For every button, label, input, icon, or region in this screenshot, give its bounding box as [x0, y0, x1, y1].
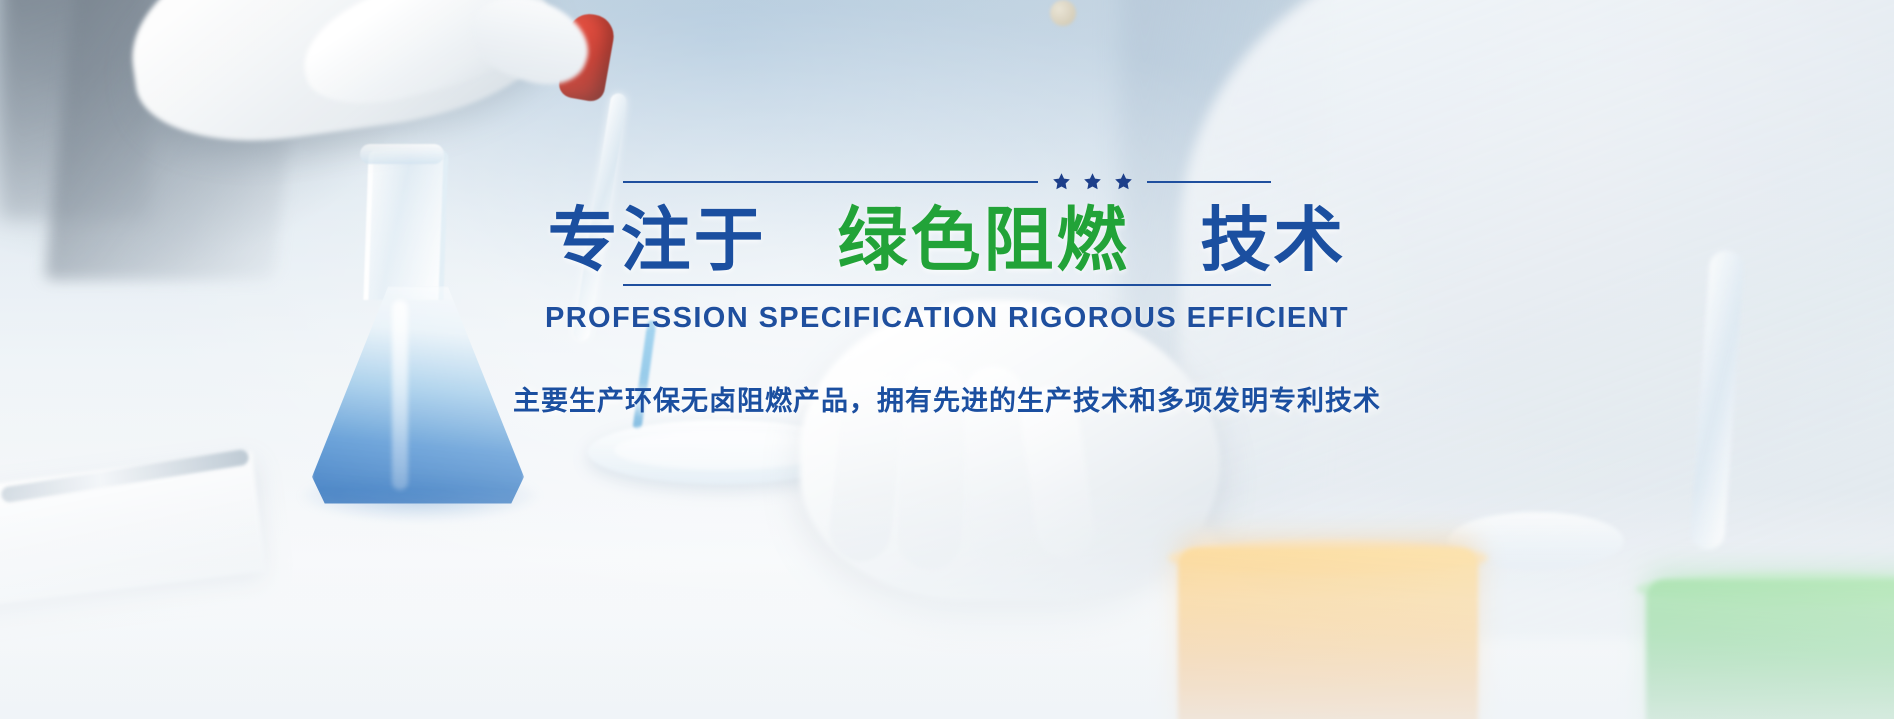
headline-part-3: 技术	[1200, 201, 1346, 279]
star-icon	[1114, 172, 1133, 191]
star-icon	[1052, 172, 1071, 191]
page-title: 专注于 绿色阻燃 技术	[548, 205, 1347, 276]
description-chinese: 主要生产环保无卤阻燃产品，拥有先进的生产技术和多项发明专利技术	[513, 379, 1381, 418]
banner-content: 专注于 绿色阻燃 技术 PROFESSION SPECIFICATION RIG…	[0, 0, 1894, 719]
headline-underline	[623, 284, 1271, 286]
divider-rule-left	[623, 181, 1038, 183]
subtitle-english: PROFESSION SPECIFICATION RIGOROUS EFFICI…	[545, 302, 1349, 335]
divider-rule-right	[1147, 181, 1271, 183]
star-icon	[1083, 172, 1102, 191]
star-group	[1052, 172, 1133, 191]
hero-banner: 专注于 绿色阻燃 技术 PROFESSION SPECIFICATION RIG…	[0, 0, 1894, 719]
headline-part-2: 绿色阻燃	[838, 201, 1130, 279]
decorative-divider	[623, 172, 1271, 191]
headline-part-1: 专注于	[548, 201, 767, 279]
